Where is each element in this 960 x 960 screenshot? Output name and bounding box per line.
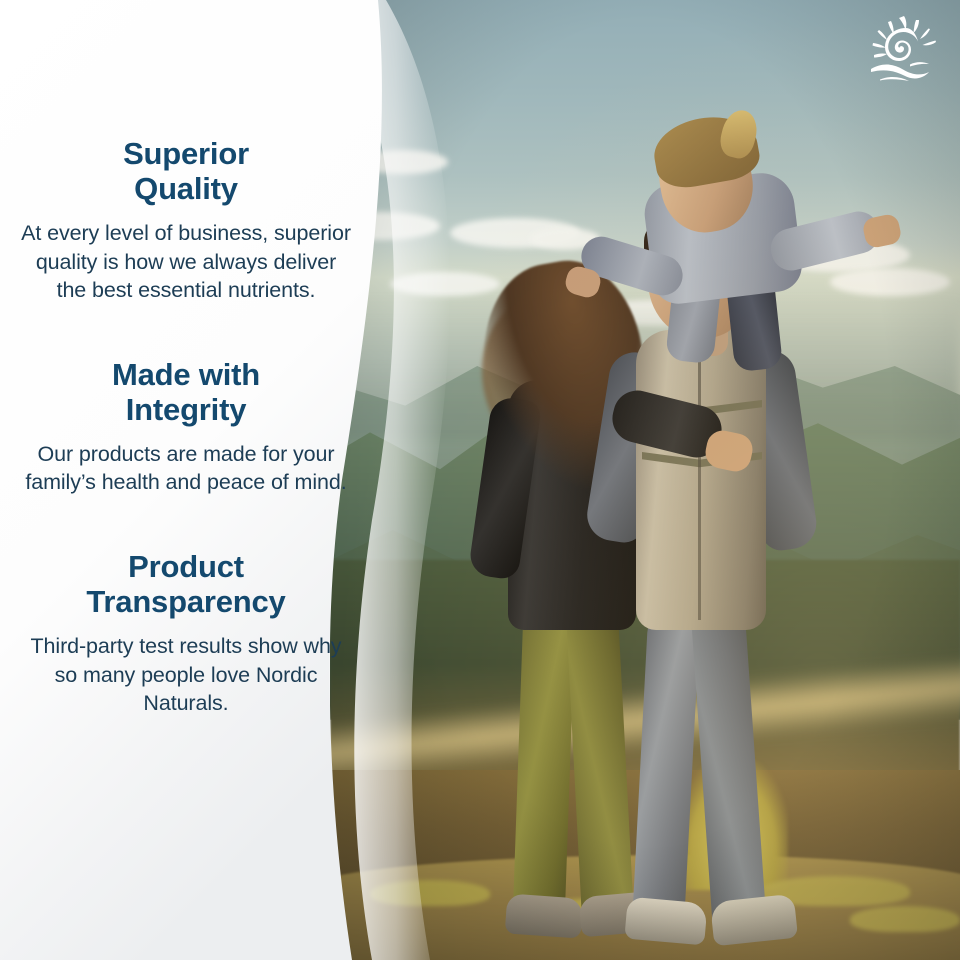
man-vest-zipper bbox=[698, 340, 701, 620]
benefit-heading-line: Superior bbox=[21, 136, 351, 171]
lifestyle-photo bbox=[330, 0, 960, 960]
promo-graphic: Superior Quality At every level of busin… bbox=[0, 0, 960, 960]
benefit-heading: Superior Quality bbox=[21, 136, 351, 206]
benefit-heading-line: Integrity bbox=[21, 392, 351, 427]
benefit-heading: Made with Integrity bbox=[21, 357, 351, 427]
man-shoe-left bbox=[624, 897, 707, 946]
man-vest bbox=[636, 330, 766, 630]
cloud bbox=[830, 268, 950, 296]
benefit-body: Third-party test results show why so man… bbox=[21, 632, 351, 718]
benefit-heading-line: Product bbox=[21, 549, 351, 584]
benefit-block-product-transparency: Product Transparency Third-party test re… bbox=[21, 549, 351, 718]
benefit-heading: Product Transparency bbox=[21, 549, 351, 619]
copy-column: Superior Quality At every level of busin… bbox=[0, 0, 372, 960]
benefit-block-made-with-integrity: Made with Integrity Our products are mad… bbox=[21, 357, 351, 497]
sun-wave-logo-icon bbox=[866, 14, 944, 86]
man-shoe-right bbox=[710, 894, 798, 947]
benefit-block-superior-quality: Superior Quality At every level of busin… bbox=[21, 136, 351, 305]
benefit-body: At every level of business, superior qua… bbox=[21, 219, 351, 305]
woman-shoe-left bbox=[505, 893, 584, 938]
benefit-heading-line: Made with bbox=[21, 357, 351, 392]
benefit-body: Our products are made for your family’s … bbox=[21, 440, 351, 497]
benefit-heading-line: Transparency bbox=[21, 584, 351, 619]
ground-scrub bbox=[850, 906, 960, 932]
benefit-heading-line: Quality bbox=[21, 171, 351, 206]
woman-leg-left bbox=[513, 609, 576, 923]
